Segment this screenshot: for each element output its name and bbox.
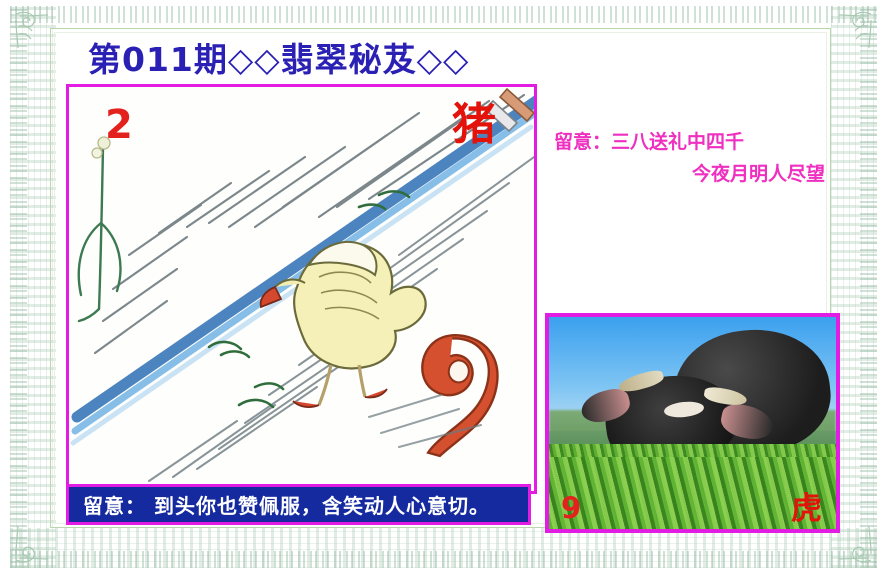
frame-left-edge bbox=[10, 6, 27, 568]
note-line-2: 今夜月明人尽望 bbox=[554, 158, 829, 190]
frame-bottom-edge bbox=[10, 551, 877, 568]
corner-flourish-top-right-icon bbox=[837, 6, 877, 50]
main-zodiac-label: 猪 bbox=[452, 103, 496, 147]
corner-flourish-bottom-right-icon bbox=[837, 524, 877, 568]
corner-flourish-bottom-left-icon bbox=[10, 524, 50, 568]
caption-text: 留意： 到头你也赞佩服，含笑动人心意切。 bbox=[69, 490, 490, 519]
photo-number-label: 9 bbox=[561, 494, 581, 523]
frame-right-edge bbox=[860, 6, 877, 568]
photo-zodiac-label: 虎 bbox=[791, 494, 822, 525]
photo-card[interactable]: 9 虎 bbox=[545, 313, 840, 533]
note-block: 留意：三八送礼中四千 今夜月明人尽望 bbox=[554, 126, 829, 190]
page-title: 第011期◇◇翡翠秘芨◇◇ bbox=[88, 33, 469, 81]
corner-flourish-top-left-icon bbox=[10, 6, 50, 50]
poster-page: 第011期◇◇翡翠秘芨◇◇ bbox=[0, 0, 887, 582]
note-line-1: 留意：三八送礼中四千 bbox=[554, 126, 829, 158]
frame-top-band bbox=[10, 6, 877, 23]
main-number-label: 2 bbox=[105, 105, 133, 145]
main-picture-card[interactable]: 2 猪 bbox=[66, 84, 537, 494]
caption-bar: 留意： 到头你也赞佩服，含笑动人心意切。 bbox=[66, 484, 531, 525]
frame-bottom-band bbox=[10, 528, 877, 568]
frame-left-band bbox=[10, 6, 56, 568]
